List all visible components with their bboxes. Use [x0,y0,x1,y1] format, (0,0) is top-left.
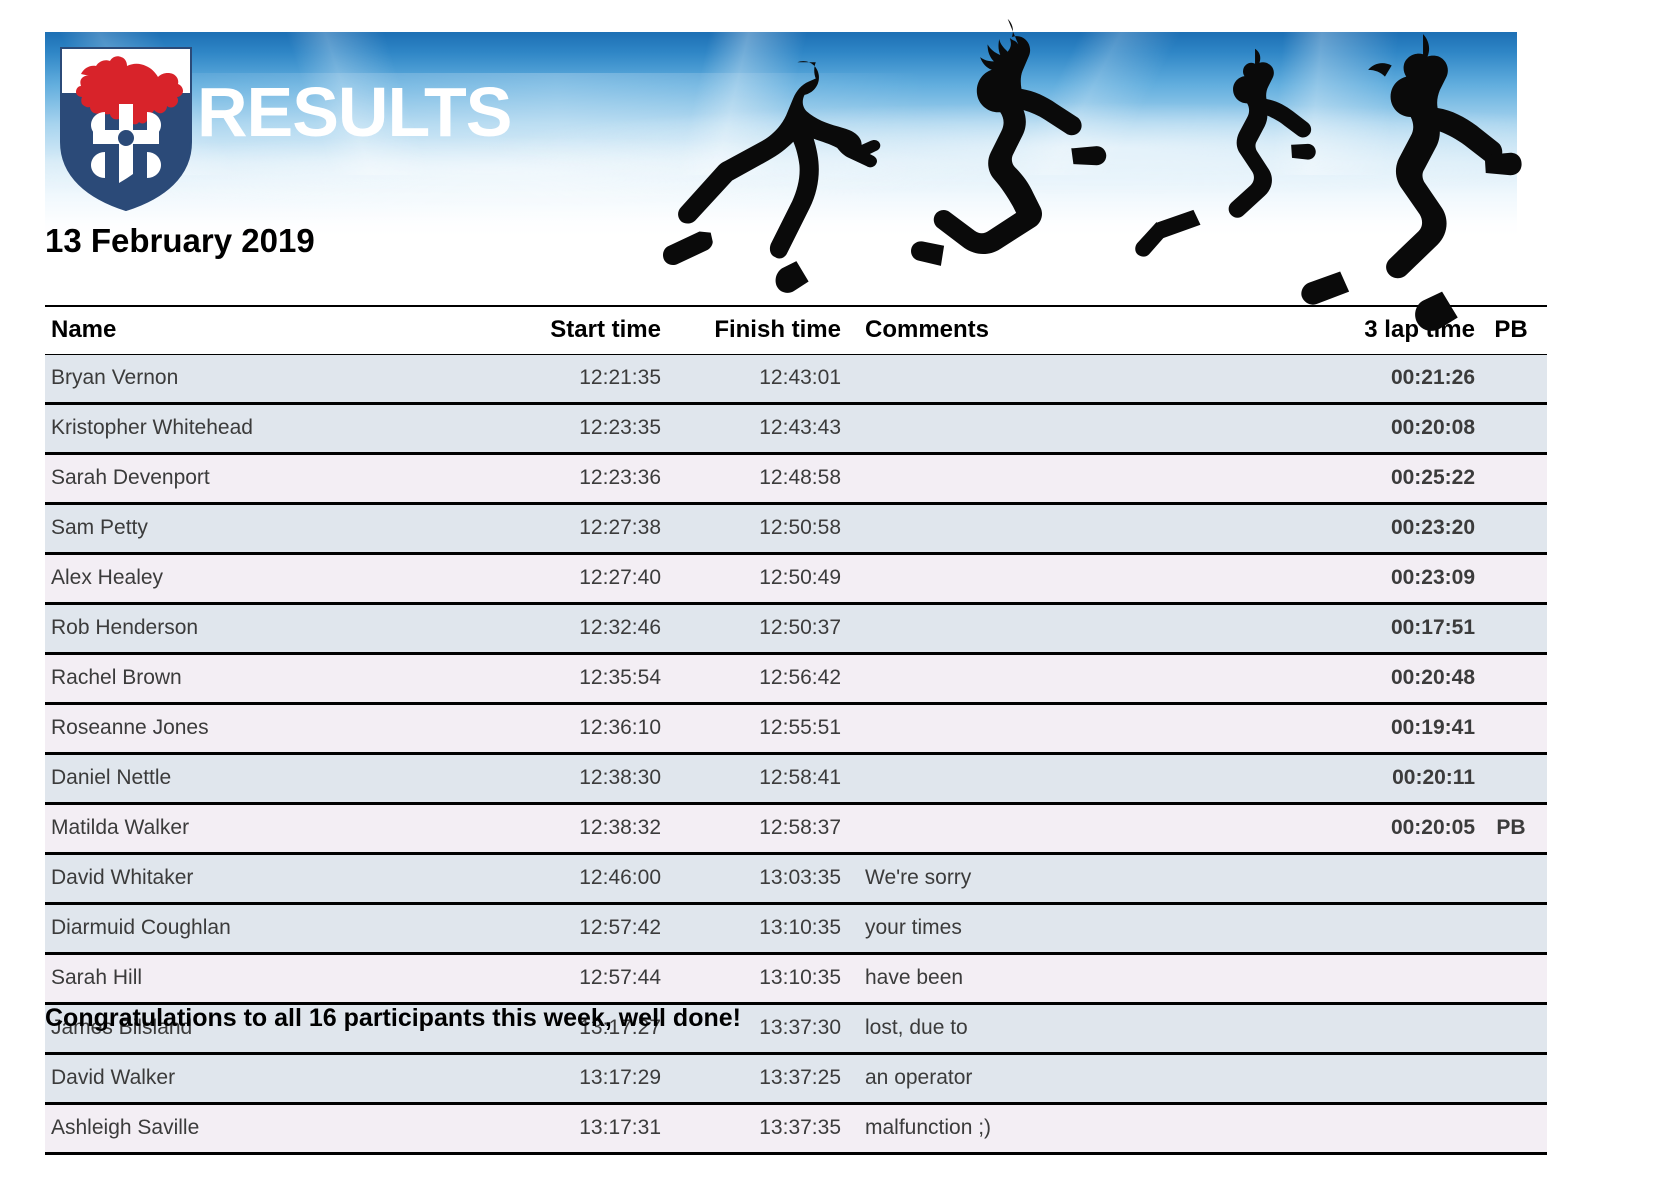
banner-title: RESULTS [197,77,512,147]
cell-pb-badge [1475,904,1547,954]
cell-comments: an operator [841,1054,1285,1104]
cell-name: Daniel Nettle [45,754,481,804]
table-row[interactable]: Rachel Brown12:35:5412:56:4200:20:48 [45,654,1547,704]
cell-finish: 12:50:37 [661,604,841,654]
cell-lap-time: 00:17:51 [1285,604,1475,654]
cell-start: 12:46:00 [481,854,661,904]
cell-lap-time [1285,854,1475,904]
cell-pb-badge [1475,704,1547,754]
cell-finish: 12:48:58 [661,454,841,504]
cell-pb-badge [1475,604,1547,654]
cell-pb-badge [1475,554,1547,604]
cell-start: 12:57:44 [481,954,661,1004]
cell-lap-time: 00:20:11 [1285,754,1475,804]
cell-name: Alex Healey [45,554,481,604]
cell-start: 12:57:42 [481,904,661,954]
table-row[interactable]: Diarmuid Coughlan12:57:4213:10:35your ti… [45,904,1547,954]
results-date: 13 February 2019 [45,222,315,260]
cell-name: Matilda Walker [45,804,481,854]
cell-name: Roseanne Jones [45,704,481,754]
cell-finish: 13:10:35 [661,904,841,954]
cell-comments [841,404,1285,454]
table-row[interactable]: Ashleigh Saville13:17:3113:37:35malfunct… [45,1104,1547,1154]
cell-lap-time: 00:25:22 [1285,454,1475,504]
cell-name: Bryan Vernon [45,355,481,404]
cell-start: 12:21:35 [481,355,661,404]
cell-pb-badge [1475,355,1547,404]
cell-lap-time: 00:21:26 [1285,355,1475,404]
table-row[interactable]: David Walker13:17:2913:37:25an operator [45,1054,1547,1104]
cell-lap-time [1285,1104,1475,1154]
cell-finish: 12:43:01 [661,355,841,404]
congratulations-message: Congratulations to all 16 participants t… [45,1004,741,1033]
table-row[interactable]: Rob Henderson12:32:4612:50:3700:17:51 [45,604,1547,654]
table-row[interactable]: Alex Healey12:27:4012:50:4900:23:09 [45,554,1547,604]
cell-comments [841,454,1285,504]
column-header-finish[interactable]: Finish time [661,306,841,355]
column-header-start[interactable]: Start time [481,306,661,355]
cell-pb-badge [1475,954,1547,1004]
column-header-lap-time[interactable]: 3 lap time [1285,306,1475,355]
cell-comments: We're sorry [841,854,1285,904]
cell-comments [841,754,1285,804]
table-row[interactable]: Daniel Nettle12:38:3012:58:4100:20:11 [45,754,1547,804]
column-header-pb[interactable]: PB [1475,306,1547,355]
cell-start: 12:27:38 [481,504,661,554]
cell-name: Rob Henderson [45,604,481,654]
cell-pb-badge: PB [1475,804,1547,854]
cell-finish: 13:03:35 [661,854,841,904]
table-header-row: Name Start time Finish time Comments 3 l… [45,306,1547,355]
cell-start: 12:27:40 [481,554,661,604]
cell-pb-badge [1475,1104,1547,1154]
table-header: Name Start time Finish time Comments 3 l… [45,306,1547,355]
table-row[interactable]: David Whitaker12:46:0013:03:35We're sorr… [45,854,1547,904]
results-banner: RESULTS [45,32,1517,236]
cell-name: David Walker [45,1054,481,1104]
cell-finish: 12:56:42 [661,654,841,704]
cell-name: Sarah Devenport [45,454,481,504]
cell-lap-time: 00:19:41 [1285,704,1475,754]
cell-finish: 12:58:37 [661,804,841,854]
cell-start: 13:17:31 [481,1104,661,1154]
cell-comments: malfunction ;) [841,1104,1285,1154]
cell-pb-badge [1475,854,1547,904]
cell-start: 12:23:35 [481,404,661,454]
cell-comments [841,355,1285,404]
table-row[interactable]: Sam Petty12:27:3812:50:5800:23:20 [45,504,1547,554]
table-row[interactable]: Kristopher Whitehead12:23:3512:43:4300:2… [45,404,1547,454]
table-body: Bryan Vernon12:21:3512:43:0100:21:26Kris… [45,355,1547,1154]
cell-finish: 12:43:43 [661,404,841,454]
cell-pb-badge [1475,504,1547,554]
cell-lap-time [1285,1054,1475,1104]
cell-lap-time: 00:20:48 [1285,654,1475,704]
table-row[interactable]: Sarah Devenport12:23:3612:48:5800:25:22 [45,454,1547,504]
cell-name: Kristopher Whitehead [45,404,481,454]
cell-start: 12:32:46 [481,604,661,654]
cell-comments [841,554,1285,604]
cell-name: Rachel Brown [45,654,481,704]
cell-comments [841,604,1285,654]
cell-start: 13:17:29 [481,1054,661,1104]
cell-pb-badge [1475,1004,1547,1054]
cell-lap-time: 00:23:20 [1285,504,1475,554]
cell-start: 12:38:30 [481,754,661,804]
cell-comments [841,654,1285,704]
cell-start: 12:38:32 [481,804,661,854]
cell-finish: 12:58:41 [661,754,841,804]
cell-pb-badge [1475,404,1547,454]
cell-lap-time: 00:20:08 [1285,404,1475,454]
cell-pb-badge [1475,454,1547,504]
table-row[interactable]: Matilda Walker12:38:3212:58:3700:20:05PB [45,804,1547,854]
cell-comments [841,804,1285,854]
cell-finish: 13:10:35 [661,954,841,1004]
cell-comments [841,504,1285,554]
column-header-comments[interactable]: Comments [841,306,1285,355]
cell-lap-time [1285,904,1475,954]
cell-start: 12:36:10 [481,704,661,754]
cell-comments: lost, due to [841,1004,1285,1054]
cell-name: Diarmuid Coughlan [45,904,481,954]
cell-finish: 12:55:51 [661,704,841,754]
cell-lap-time [1285,954,1475,1004]
cell-finish: 12:50:58 [661,504,841,554]
column-header-name[interactable]: Name [45,306,481,355]
table-row[interactable]: Sarah Hill12:57:4413:10:35have been [45,954,1547,1004]
cell-pb-badge [1475,1054,1547,1104]
cell-lap-time: 00:23:09 [1285,554,1475,604]
cell-pb-badge [1475,654,1547,704]
cell-finish: 13:37:25 [661,1054,841,1104]
cell-start: 12:35:54 [481,654,661,704]
cell-lap-time [1285,1004,1475,1054]
table-row[interactable]: Roseanne Jones12:36:1012:55:5100:19:41 [45,704,1547,754]
cell-comments [841,704,1285,754]
cell-name: Ashleigh Saville [45,1104,481,1154]
cell-lap-time: 00:20:05 [1285,804,1475,854]
cell-finish: 12:50:49 [661,554,841,604]
cell-name: Sam Petty [45,504,481,554]
cell-finish: 13:37:35 [661,1104,841,1154]
cell-name: David Whitaker [45,854,481,904]
cell-comments: have been [841,954,1285,1004]
cell-comments: your times [841,904,1285,954]
table-row[interactable]: Bryan Vernon12:21:3512:43:0100:21:26 [45,355,1547,404]
cell-start: 12:23:36 [481,454,661,504]
cell-pb-badge [1475,754,1547,804]
cell-name: Sarah Hill [45,954,481,1004]
newcastle-university-crest-icon [59,46,193,212]
